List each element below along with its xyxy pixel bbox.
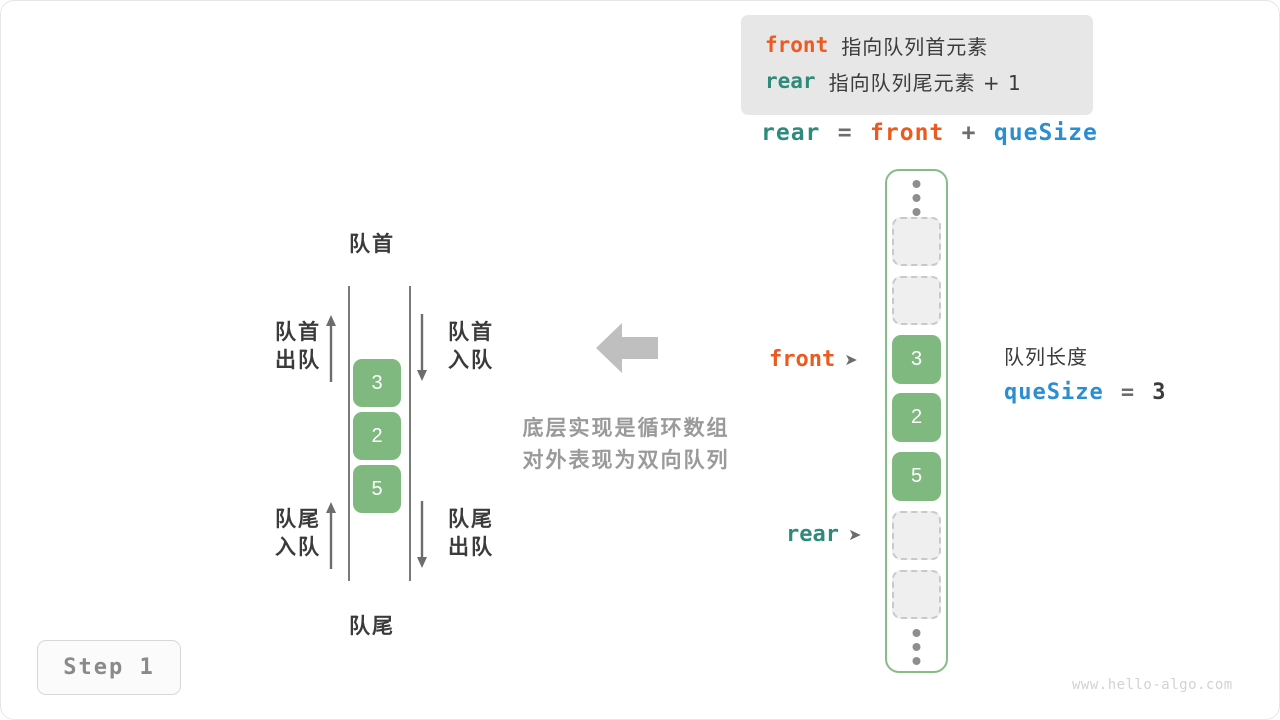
array-cell: 2 [892, 393, 941, 442]
array-cell [892, 570, 941, 619]
label-front-enqueue: 队首入队 [448, 319, 494, 375]
queue-size-value: 3 [1152, 380, 1166, 405]
deque-cell: 3 [353, 359, 401, 407]
watermark: www.hello-algo.com [1072, 677, 1233, 693]
deque-channel-right-line [409, 286, 411, 581]
label-rear-enqueue: 队尾入队 [251, 506, 321, 562]
ellipsis-bottom-icon [908, 627, 925, 667]
equation-plus: + [962, 120, 977, 146]
deque-cell: 5 [353, 465, 401, 513]
equation-rear: rear [761, 120, 820, 146]
pointer-arrowhead-icon: ➤ [848, 525, 861, 544]
queue-size-name: queSize [1004, 380, 1104, 405]
queue-size-equals: = [1121, 380, 1135, 405]
diagram-canvas: front 指向队列首元素 rear 指向队列尾元素 + 1 rear = fr… [0, 0, 1280, 720]
pointer-arrowhead-icon: ➤ [844, 350, 857, 369]
equation-equals: = [838, 120, 853, 146]
array-cell: 3 [892, 335, 941, 384]
legend-row-rear: rear 指向队列尾元素 + 1 [765, 63, 1093, 99]
legend-symbol-rear: rear [765, 69, 816, 93]
center-note-line2: 对外表现为双向队列 [501, 445, 751, 477]
center-note: 底层实现是循环数组 对外表现为双向队列 [501, 413, 751, 477]
array-cell: 5 [892, 452, 941, 501]
deque-head-label: 队首 [349, 228, 395, 258]
legend-box: front 指向队列首元素 rear 指向队列尾元素 + 1 [741, 15, 1093, 115]
pointer-rear: rear ➤ [786, 522, 861, 547]
legend-text-front: 指向队列首元素 [841, 31, 988, 60]
queue-size-expression: queSize = 3 [1004, 379, 1176, 405]
label-rear-dequeue: 队尾出队 [448, 506, 494, 562]
pointer-equation: rear = front + queSize [761, 119, 1108, 146]
ellipsis-top-icon [908, 178, 925, 218]
equation-quesize: queSize [994, 120, 1098, 146]
queue-size-title: 队列长度 [1004, 341, 1176, 370]
arrow-down-rear-dequeue [414, 501, 430, 569]
legend-text-rear: 指向队列尾元素 + 1 [829, 67, 1022, 96]
arrow-up-front-dequeue [323, 314, 339, 382]
pointer-rear-label: rear [786, 522, 839, 547]
label-front-dequeue: 队首出队 [251, 319, 321, 375]
array-cell [892, 511, 941, 560]
pointer-front: front ➤ [769, 347, 858, 372]
deque-channel-left-line [348, 286, 350, 581]
center-note-line1: 底层实现是循环数组 [501, 413, 751, 445]
arrow-down-front-enqueue [414, 314, 430, 382]
deque-cell: 2 [353, 412, 401, 460]
equation-front: front [870, 120, 944, 146]
array-cell [892, 217, 941, 266]
legend-row-front: front 指向队列首元素 [765, 27, 1093, 63]
pointer-front-label: front [769, 347, 835, 372]
queue-size-block: 队列长度 queSize = 3 [1004, 341, 1176, 405]
array-cell [892, 276, 941, 325]
mapping-arrow-icon [596, 321, 658, 375]
legend-symbol-front: front [765, 33, 828, 57]
arrow-up-rear-enqueue [323, 501, 339, 569]
deque-tail-label: 队尾 [349, 610, 395, 640]
step-badge: Step 1 [37, 640, 181, 695]
